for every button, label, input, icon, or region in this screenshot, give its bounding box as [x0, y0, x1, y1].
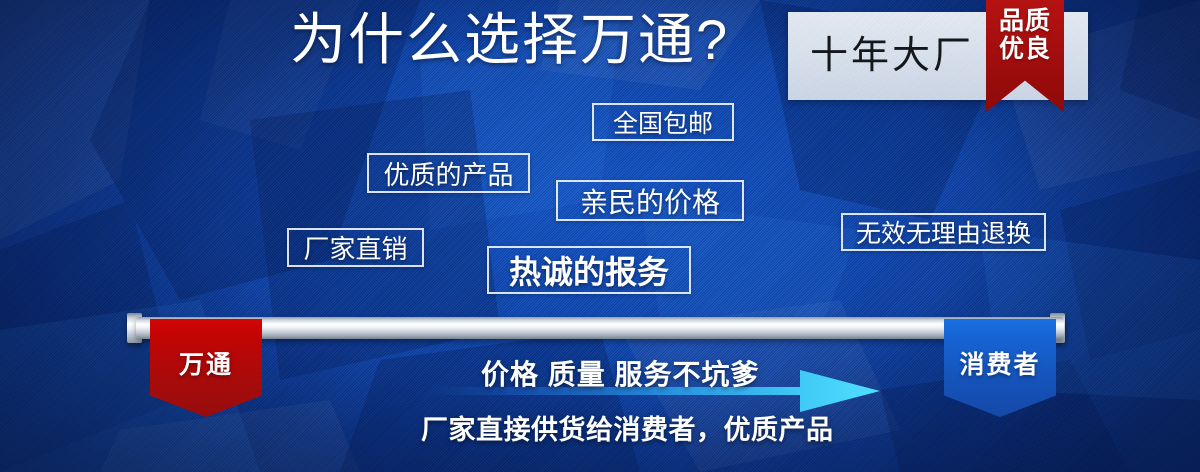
bottom-line-1: 价格 质量 服务不坑爹 — [481, 353, 760, 393]
feature-box-label: 优质的产品 — [383, 155, 513, 192]
feature-box-label: 无效无理由退换 — [856, 214, 1031, 250]
ribbon-line-1: 品质 — [999, 8, 1051, 36]
ribbon-line-2: 优良 — [999, 36, 1051, 64]
flag-target-label: 消费者 — [959, 345, 1040, 381]
promo-banner: 为什么选择万通? 十年大厂 品质 优良 全国包邮优质的产品亲民的价格无效无理由退… — [0, 0, 1200, 472]
quality-badge: 十年大厂 品质 优良 — [788, 12, 1088, 100]
feature-box: 亲民的价格 — [556, 180, 744, 221]
feature-box-label: 亲民的价格 — [580, 181, 720, 221]
feature-box: 无效无理由退换 — [841, 213, 1046, 251]
feature-box: 全国包邮 — [592, 103, 734, 141]
bottom-line-2: 厂家直接供货给消费者，优质产品 — [421, 408, 834, 447]
page-title: 为什么选择万通? — [290, 12, 729, 68]
feature-box: 优质的产品 — [367, 153, 530, 193]
banner-rod — [136, 317, 1064, 339]
flag-source-label: 万通 — [179, 345, 233, 381]
feature-box-label: 热诚的报务 — [509, 247, 669, 293]
feature-box: 热诚的报务 — [487, 246, 691, 294]
feature-box: 厂家直销 — [287, 228, 424, 267]
badge-title: 十年大厂 — [810, 37, 974, 75]
feature-box-label: 厂家直销 — [303, 229, 407, 266]
feature-box-label: 全国包邮 — [613, 104, 713, 140]
